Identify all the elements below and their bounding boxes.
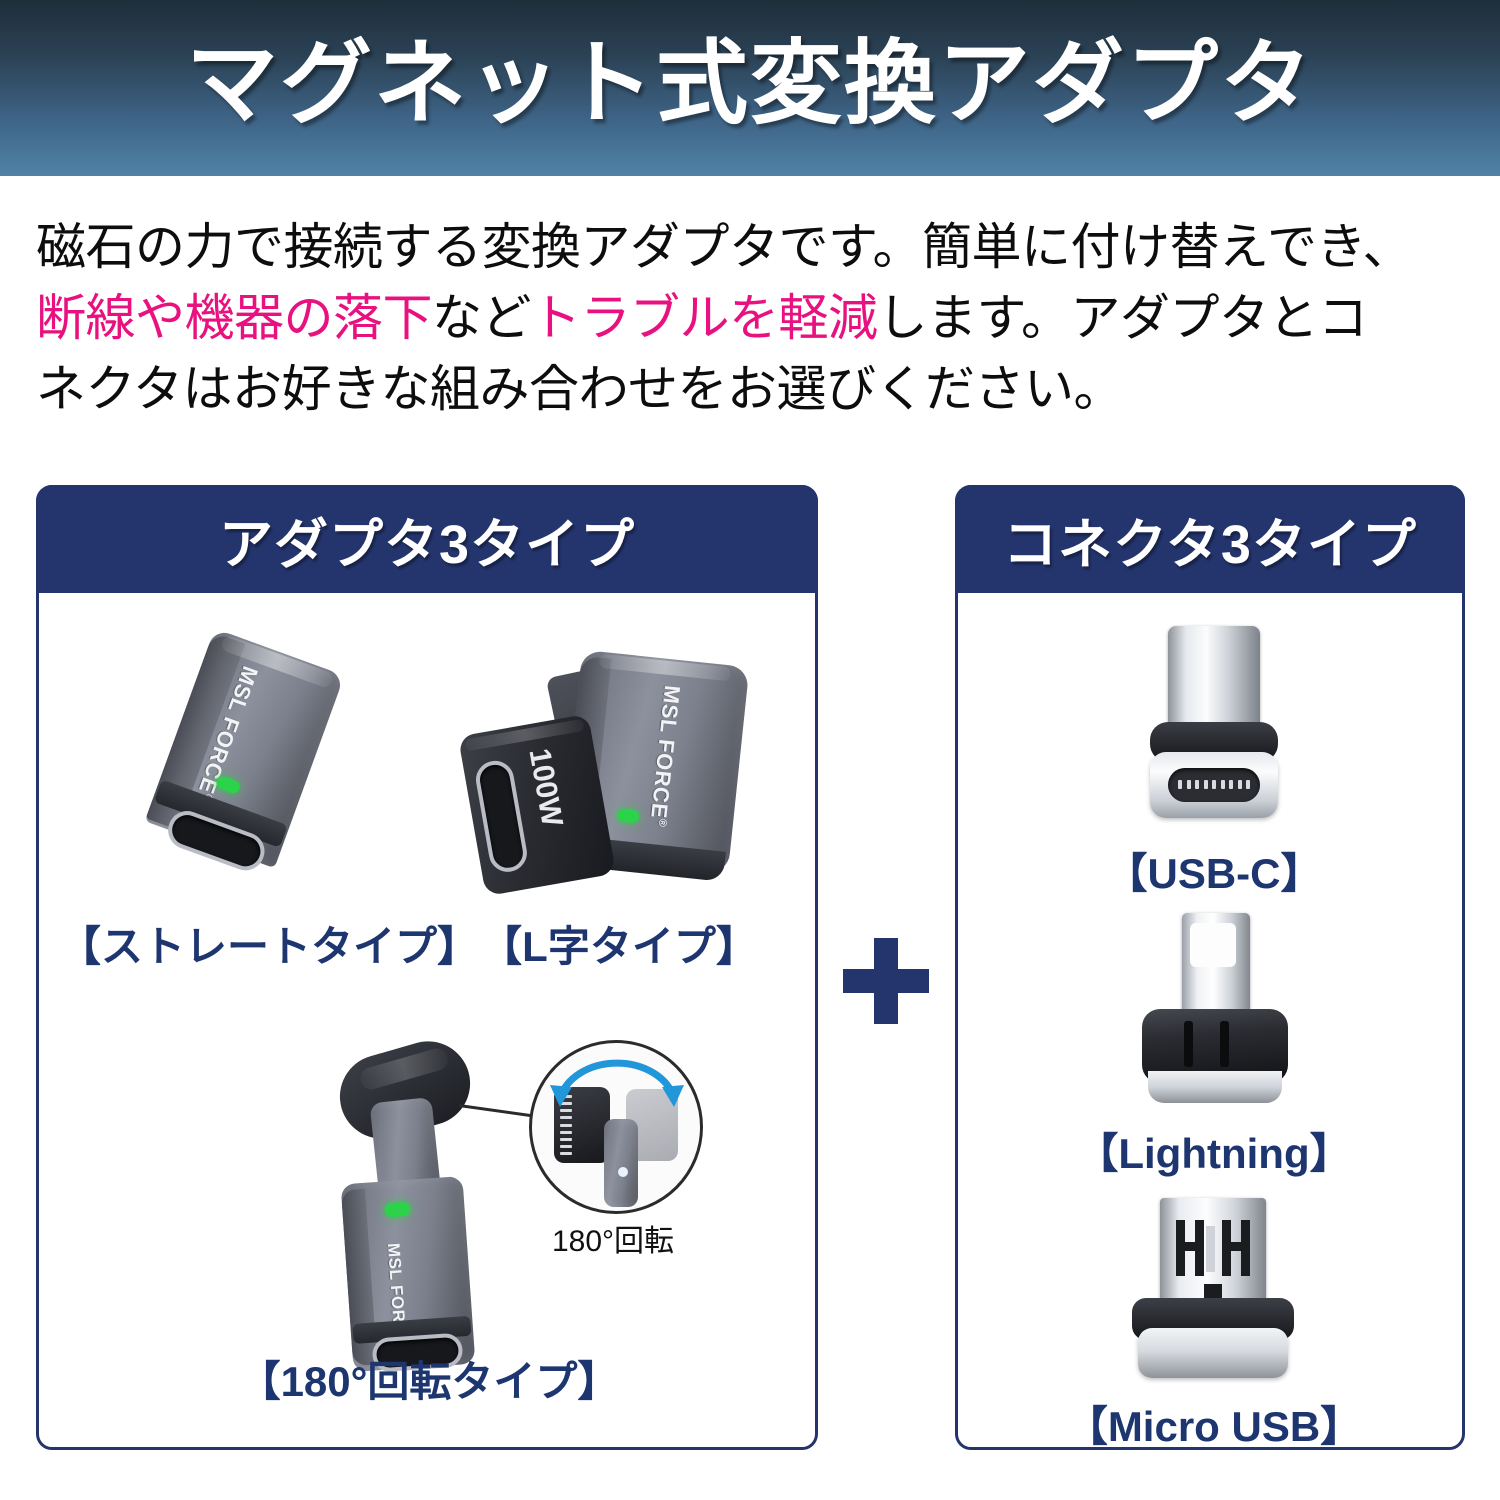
product-usb-c-connector [1124,626,1304,846]
rotation-callout [529,1040,703,1214]
product-l-adapter: MSL FORCE® 100W [459,638,759,938]
page-title: マグネット式変換アダプタ [0,36,1500,133]
description-highlight-2: トラブルを軽減 [531,290,878,346]
header-banner: マグネット式変換アダプタ [0,0,1500,176]
panel-connectors: コネクタ3タイプ 【USB-C】 【Lightning】 [955,485,1465,1450]
rotation-callout-label: 180°回転 [527,1216,699,1260]
brand-trademark: ® [656,818,669,828]
caption-usb-c: 【USB-C】 [1044,840,1384,901]
led-indicator [617,808,640,823]
product-micro-usb-connector [1118,1198,1308,1408]
rotation-arrow-icon [546,1051,688,1113]
panel-adapters-header-label: アダプタ3タイプ [219,500,635,579]
magnet-pins [1178,780,1250,789]
led-indicator [384,1202,411,1218]
panel-connectors-header: コネクタ3タイプ [955,485,1465,593]
caption-l-type: 【L字タイプ】 [459,913,779,974]
product-straight-adapter: MSL FORCE® [139,633,389,933]
product-rotating-adapter: MSL FORCE® [289,1048,589,1378]
panel-adapters-header: アダプタ3タイプ [36,485,818,593]
callout-leader-line [459,1104,539,1118]
description-line-2-mid: など [432,290,531,346]
caption-micro-usb: 【Micro USB】 [1004,1393,1424,1454]
caption-straight-type: 【ストレートタイプ】 [59,913,439,974]
description-line-3: ネクタはお好きな組み合わせをお選びください。 [36,361,1123,417]
caption-lightning: 【Lightning】 [1024,1120,1404,1181]
description-highlight-1: 断線や機器の落下 [36,290,432,346]
description-line-2-end: します。アダプタとコ [878,290,1368,346]
description-text: 磁石の力で接続する変換アダプタです。簡単に付け替えでき、 断線や機器の落下などト… [36,212,1466,425]
description-line-1: 磁石の力で接続する変換アダプタです。簡単に付け替えでき、 [36,219,1412,275]
plus-icon [843,938,929,1024]
product-lightning-connector [1124,913,1304,1133]
caption-rotating-type: 【180°回転タイプ】 [169,1348,689,1409]
panel-connectors-header-label: コネクタ3タイプ [1003,500,1417,579]
panel-adapters: アダプタ3タイプ MSL FORCE® 【ストレートタイプ】 [36,485,818,1450]
